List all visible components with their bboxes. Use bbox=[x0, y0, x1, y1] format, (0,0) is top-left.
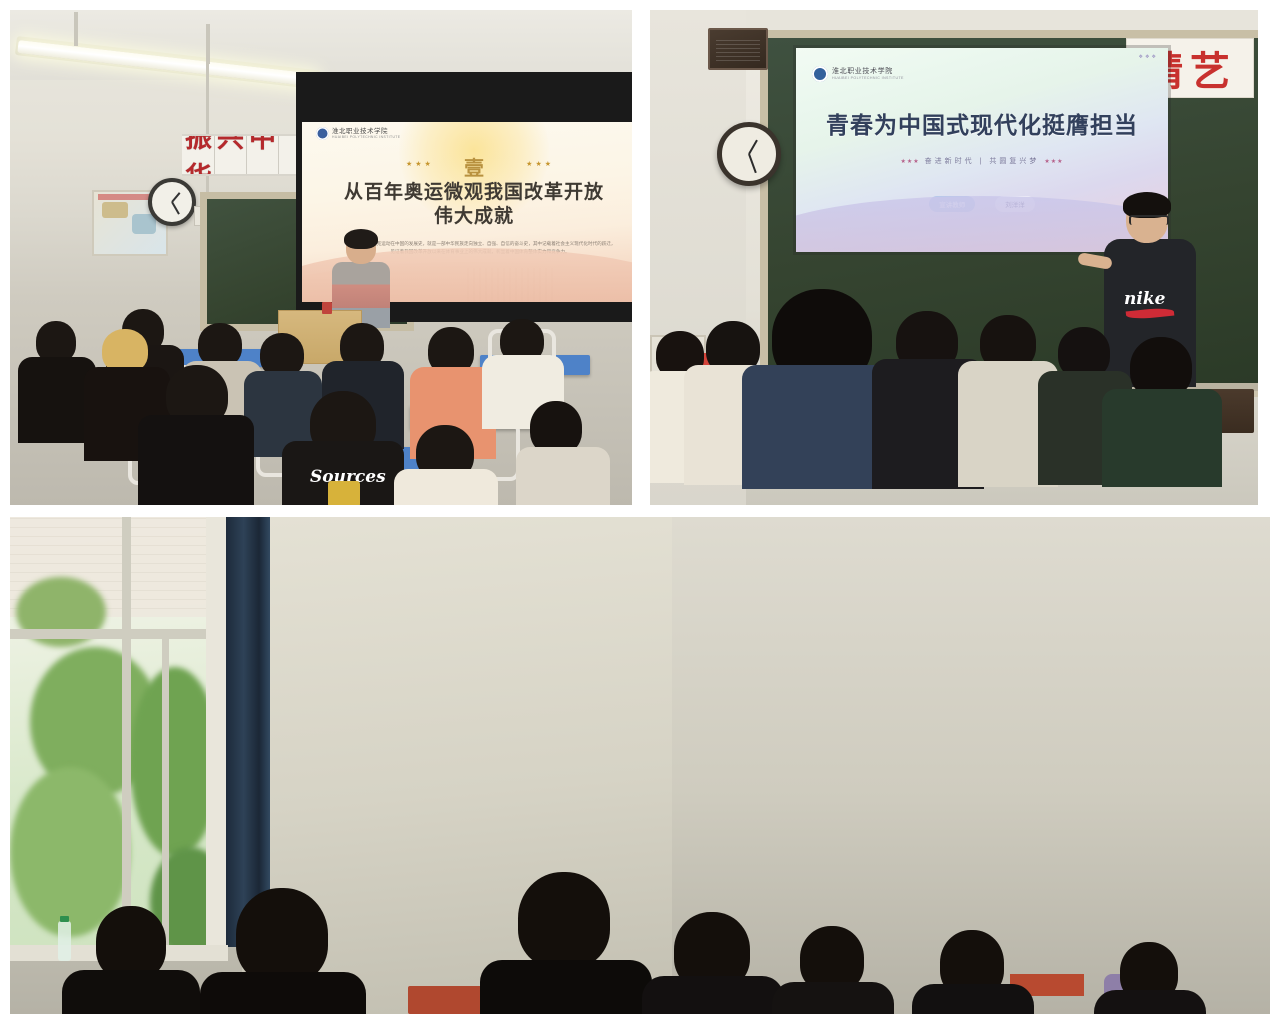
subtitle-stars-left: ★★★ bbox=[901, 159, 920, 165]
school-name-en: HUAIBEI POLYTECHNIC INSTITUTE bbox=[832, 77, 904, 81]
slide-title-line1: 从百年奥运微观我国改革开放 bbox=[326, 180, 622, 204]
stars-right: ★★★ bbox=[526, 160, 554, 168]
school-logo-icon bbox=[812, 66, 828, 82]
glasses-icon bbox=[1129, 215, 1169, 225]
subtitle-stars-right: ★★★ bbox=[1044, 159, 1063, 165]
wall-speaker-box bbox=[708, 28, 768, 70]
school-name-en: HUAIBEI POLYTECHNIC INSTITUTE bbox=[332, 136, 400, 139]
ceiling-rod bbox=[74, 12, 78, 46]
student-seating-area: Sources bbox=[10, 305, 632, 505]
photo-top-left: 振兴中华 淮北职业技术学院 HUAIBEI POLYTECHNIC INSTIT… bbox=[10, 10, 632, 505]
slide-title-line2: 伟大成就 bbox=[326, 204, 622, 228]
window-mullion bbox=[10, 629, 210, 639]
school-logo-icon bbox=[316, 127, 329, 140]
slide-subtitle: 奋进新时代 | 共圆复兴梦 bbox=[925, 158, 1040, 165]
slide-title: 青春为中国式现代化挺膺担当 bbox=[810, 106, 1154, 140]
wall-clock bbox=[717, 122, 781, 186]
audience-row bbox=[10, 864, 1270, 1014]
ceiling-rod bbox=[206, 24, 210, 64]
slide-subtitle-row: ★★★ 奋进新时代 | 共圆复兴梦 ★★★ bbox=[796, 156, 1168, 166]
slide-title: 从百年奥运微观我国改革开放 伟大成就 bbox=[326, 180, 622, 229]
school-logo: 淮北职业技术学院 HUAIBEI POLYTECHNIC INSTITUTE bbox=[316, 127, 400, 140]
wall-clock bbox=[148, 178, 196, 226]
school-logo: 淮北职业技术学院 HUAIBEI POLYTECHNIC INSTITUTE bbox=[812, 66, 904, 82]
wall-banner-zhenxing-zhonghua: 振兴中华 bbox=[182, 134, 310, 176]
school-name-cn: 淮北职业技术学院 bbox=[332, 128, 400, 135]
photo-top-right: 精艺 ❖❖❖ 淮北职业技术学院 HUAIBEI POLYTECHNIC INST… bbox=[650, 10, 1258, 505]
photo-bottom-wide: 12 3 6 9 积累 无以至千里 无以成江海 中国代表团获得奥运金牌数已累计超… bbox=[10, 517, 1270, 1014]
school-name-cn: 淮北职业技术学院 bbox=[832, 68, 904, 75]
slide-corner-stars: ❖❖❖ bbox=[1139, 54, 1158, 60]
slide-section-number: 壹 bbox=[302, 152, 632, 181]
student-seating-area bbox=[650, 305, 1258, 505]
photo-collage: 振兴中华 淮北职业技术学院 HUAIBEI POLYTECHNIC INSTIT… bbox=[0, 0, 1280, 1024]
